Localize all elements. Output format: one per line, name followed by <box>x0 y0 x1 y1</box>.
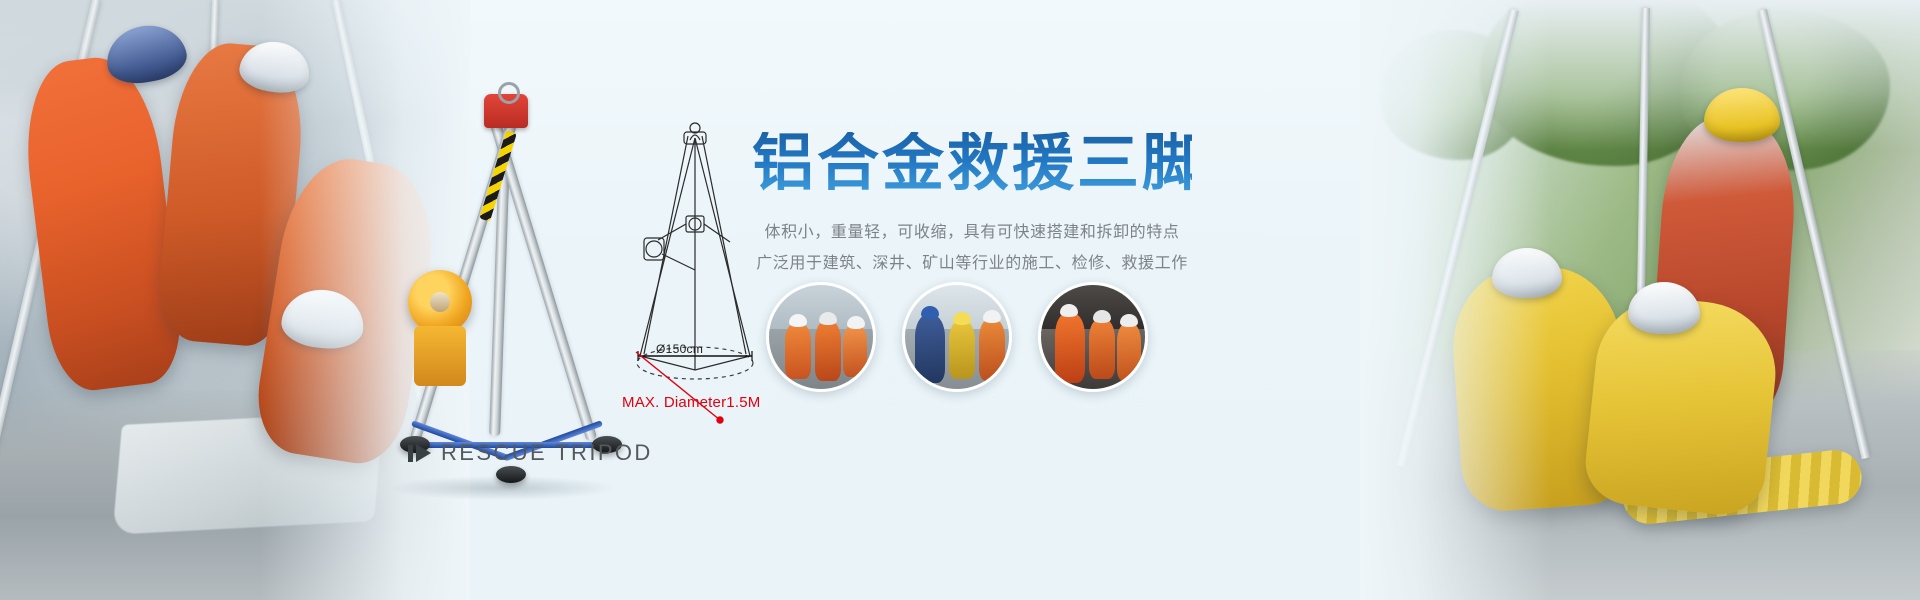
product-winch-body <box>414 326 466 386</box>
right-photo-collage <box>1360 0 1920 600</box>
product-winch-drum <box>408 270 472 334</box>
product-caption: RESCUE TRIPOD <box>408 440 653 466</box>
right-photo-fade <box>1360 0 1550 600</box>
subtitle-line-1: 体积小，重量轻，可收缩，具有可快速搭建和拆卸的特点 <box>752 217 1192 248</box>
banner-title: 铝合金救援三脚架 <box>752 132 1192 195</box>
diameter-label: Ø150cm <box>656 342 703 356</box>
max-diameter-label: MAX. Diameter1.5M <box>622 394 760 411</box>
banner-subtitle: 体积小，重量轻，可收缩，具有可快速搭建和拆卸的特点 广泛用于建筑、深井、矿山等行… <box>752 217 1192 279</box>
subtitle-line-2: 广泛用于建筑、深井、矿山等行业的施工、检修、救援工作 <box>752 248 1192 279</box>
thumbnail-site-inspection-scene[interactable] <box>902 282 1012 392</box>
thumbnail-confined-space-rescue-scene[interactable] <box>1038 282 1148 392</box>
banner-text-block: 铝合金救援三脚架 体积小，重量轻，可收缩，具有可快速搭建和拆卸的特点 广泛用于建… <box>752 132 1192 280</box>
product-foot-front <box>496 466 526 483</box>
product-photo-tripod <box>380 80 620 500</box>
product-banner: Ø150cm MAX. Diameter1.5M RESCUE TRIPOD 铝… <box>0 0 1920 600</box>
thumbnail-rescue-training-scene[interactable] <box>766 282 876 392</box>
thumbnail-row <box>766 282 1148 392</box>
product-leg-left <box>490 122 597 441</box>
product-head-assembly <box>484 94 528 128</box>
product-caption-text: RESCUE TRIPOD <box>441 440 653 466</box>
play-marker-icon <box>408 444 431 462</box>
